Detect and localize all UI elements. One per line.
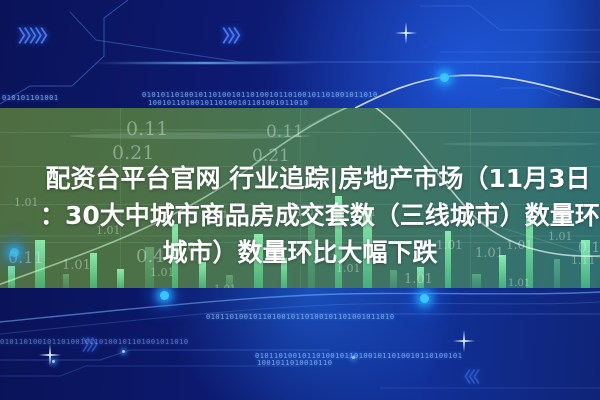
binary-row-bottom-d: 0101101001011010010110100101101001011010 [0, 338, 189, 346]
chevron-cluster-bottom-right: 〈〈〈 [456, 366, 477, 387]
glow-point-arc-top [440, 73, 449, 82]
glow-point-bottom-right [420, 294, 429, 303]
chevron-cluster-top-right: 〉〉〉 [222, 22, 247, 47]
top-tech-band: 〉〉〉〉〉 〉〉〉 010101101001 01010110100101101… [0, 0, 600, 108]
node-dot [122, 350, 125, 353]
sparkle-bottom-right [463, 330, 465, 352]
chevron-cluster-top-left: 〉〉〉〉〉 [18, 22, 54, 47]
bottom-tech-band: 〉〉〉 〈〈〈 01011010010110100101101001011010… [0, 288, 600, 400]
binary-row-top-b: 1001011010010110100101101001011010 [148, 99, 308, 107]
sparkle-top-center [405, 22, 407, 44]
node-dot [52, 360, 55, 363]
binary-row-bottom-a: 0101101001011010010110100101101001011010 [206, 313, 395, 321]
sparkle-bottom-left [49, 344, 51, 366]
banner-image: 〉〉〉〉〉 〉〉〉 010101101001 01010110100101101… [0, 0, 600, 400]
glow-point-bottom-left [160, 291, 169, 300]
mid-chart-band: 0.110.210.110.211.010.111.011.011.011.01… [0, 108, 600, 288]
binary-row-top-left: 010101101001 [2, 94, 59, 102]
binary-row-top-a: 0101011010010110100101101001011010010110… [142, 91, 378, 99]
mid-band-linework [0, 108, 600, 288]
light-streak-top [90, 62, 320, 64]
glow-point-mid-left [10, 248, 19, 257]
binary-row-bottom-c: 1001011010010110 [257, 359, 332, 367]
